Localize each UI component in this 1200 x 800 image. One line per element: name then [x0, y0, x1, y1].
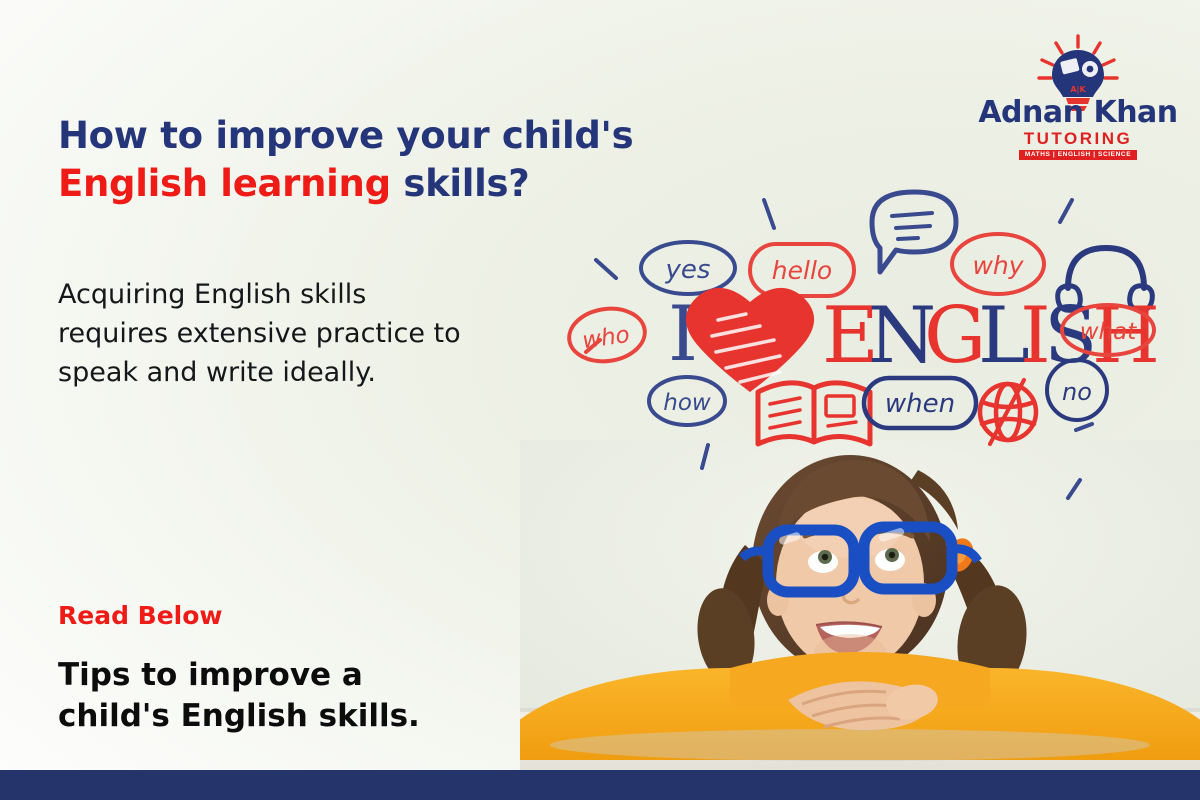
- tick-mark-icon: [764, 200, 774, 228]
- subcopy-text: Acquiring English skills requires extens…: [58, 275, 478, 392]
- doodle-bubble-why: why: [952, 234, 1044, 294]
- svg-text:why: why: [972, 251, 1024, 280]
- svg-text:hello: hello: [772, 256, 832, 285]
- svg-text:how: how: [663, 390, 711, 416]
- tick-mark-icon: [1060, 200, 1072, 222]
- svg-text:yes: yes: [665, 255, 711, 285]
- headline-line-2-rest: skills?: [391, 162, 530, 205]
- tips-line-2: child's English skills.: [58, 698, 420, 734]
- svg-text:A|K: A|K: [1070, 85, 1086, 94]
- doodle-bubble-when: when: [864, 378, 976, 428]
- doodle-bubble-who: who: [566, 304, 648, 366]
- logo-wordmark: Adnan Khan: [978, 98, 1177, 128]
- doodle-bubble-yes: yes: [641, 242, 735, 294]
- girl-with-glasses-photo: [520, 440, 1200, 775]
- logo-name-first: Adnan: [978, 95, 1083, 130]
- tips-heading: Tips to improve a child's English skills…: [58, 655, 528, 737]
- heart-icon: [686, 288, 814, 392]
- svg-text:no: no: [1062, 378, 1092, 406]
- tick-mark-icon: [1076, 424, 1092, 430]
- footer-bar: [0, 770, 1200, 800]
- doodle-bubble-hello: hello: [750, 244, 854, 296]
- svg-text:what: what: [1080, 319, 1137, 345]
- logo-name-last: Khan: [1093, 95, 1177, 130]
- read-below-label: Read Below: [58, 601, 223, 630]
- logo-subjects: MATHS | ENGLISH | SCIENCE: [1019, 150, 1137, 161]
- tips-line-1: Tips to improve a: [58, 657, 363, 693]
- logo-tagline: TUTORING: [1024, 130, 1132, 147]
- globe-icon: [980, 380, 1036, 444]
- headline-highlight: English learning: [58, 162, 391, 205]
- svg-text:who: who: [581, 322, 632, 354]
- svg-text:when: when: [885, 389, 955, 419]
- speech-bubble-icon: [872, 192, 956, 272]
- poster-canvas: yes hello why: [0, 0, 1200, 800]
- tick-mark-icon: [596, 260, 616, 278]
- svg-text:G: G: [924, 291, 986, 381]
- page-title: How to improve your child's English lear…: [58, 112, 698, 208]
- open-book-icon: [758, 383, 870, 444]
- headline-line-1: How to improve your child's: [58, 114, 633, 157]
- brand-logo[interactable]: A|K Adnan Khan TUTORING MATHS | ENGLISH …: [994, 34, 1162, 160]
- doodle-bubble-how: how: [649, 377, 725, 425]
